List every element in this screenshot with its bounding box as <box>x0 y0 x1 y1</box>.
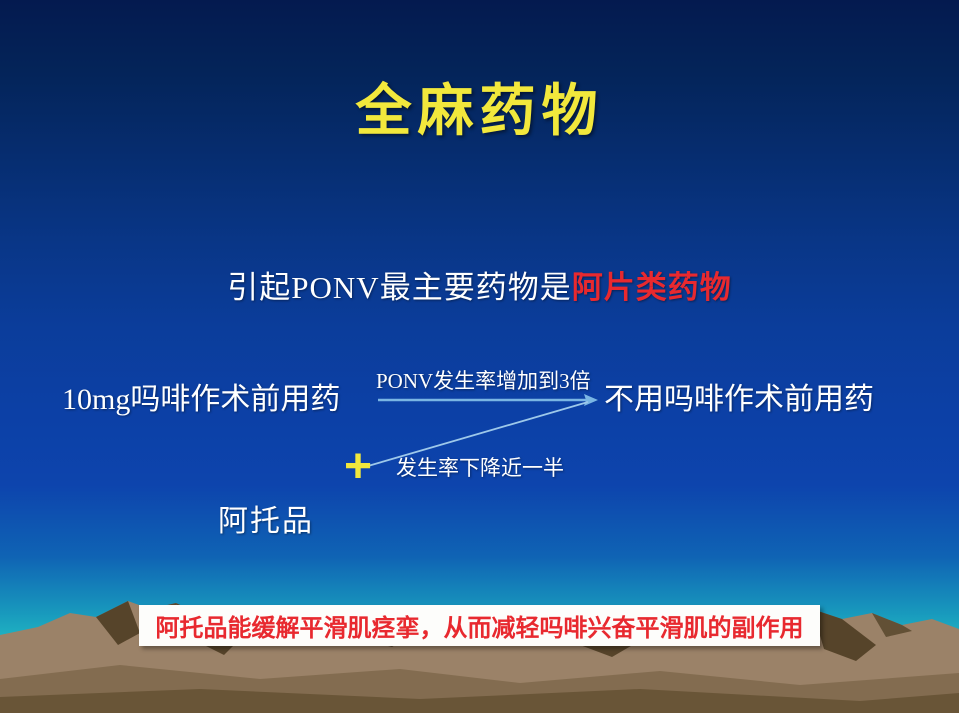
subtitle-line: 引起PONV最主要药物是阿片类药物 <box>0 262 959 307</box>
right-term-label: 不用吗啡作术前用药 <box>604 374 874 418</box>
subtitle-prefix: 引起PONV最主要药物是 <box>227 270 571 305</box>
slide-canvas: 全麻药物 引起PONV最主要药物是阿片类药物 10mg吗啡作术前用药 不用吗啡作… <box>0 0 959 713</box>
slide-title: 全麻药物 <box>0 80 959 144</box>
arrowhead-icon <box>584 394 598 406</box>
mountain-silhouette-graphic <box>0 583 959 713</box>
adjunct-drug-label: 阿托品 <box>218 496 314 540</box>
conclusion-banner: 阿托品能缓解平滑肌痉挛，从而减轻吗啡兴奋平滑肌的副作用 <box>139 605 820 646</box>
arrow-label-increase: PONV发生率增加到3倍 <box>376 365 591 395</box>
conclusion-banner-text: 阿托品能缓解平滑肌痉挛，从而减轻吗啡兴奋平滑肌的副作用 <box>156 608 804 643</box>
arrow-label-decrease: 发生率下降近一半 <box>396 452 564 482</box>
subtitle-highlight: 阿片类药物 <box>572 270 732 305</box>
left-term-label: 10mg吗啡作术前用药 <box>62 374 340 418</box>
plus-sign-icon: + <box>338 448 378 488</box>
